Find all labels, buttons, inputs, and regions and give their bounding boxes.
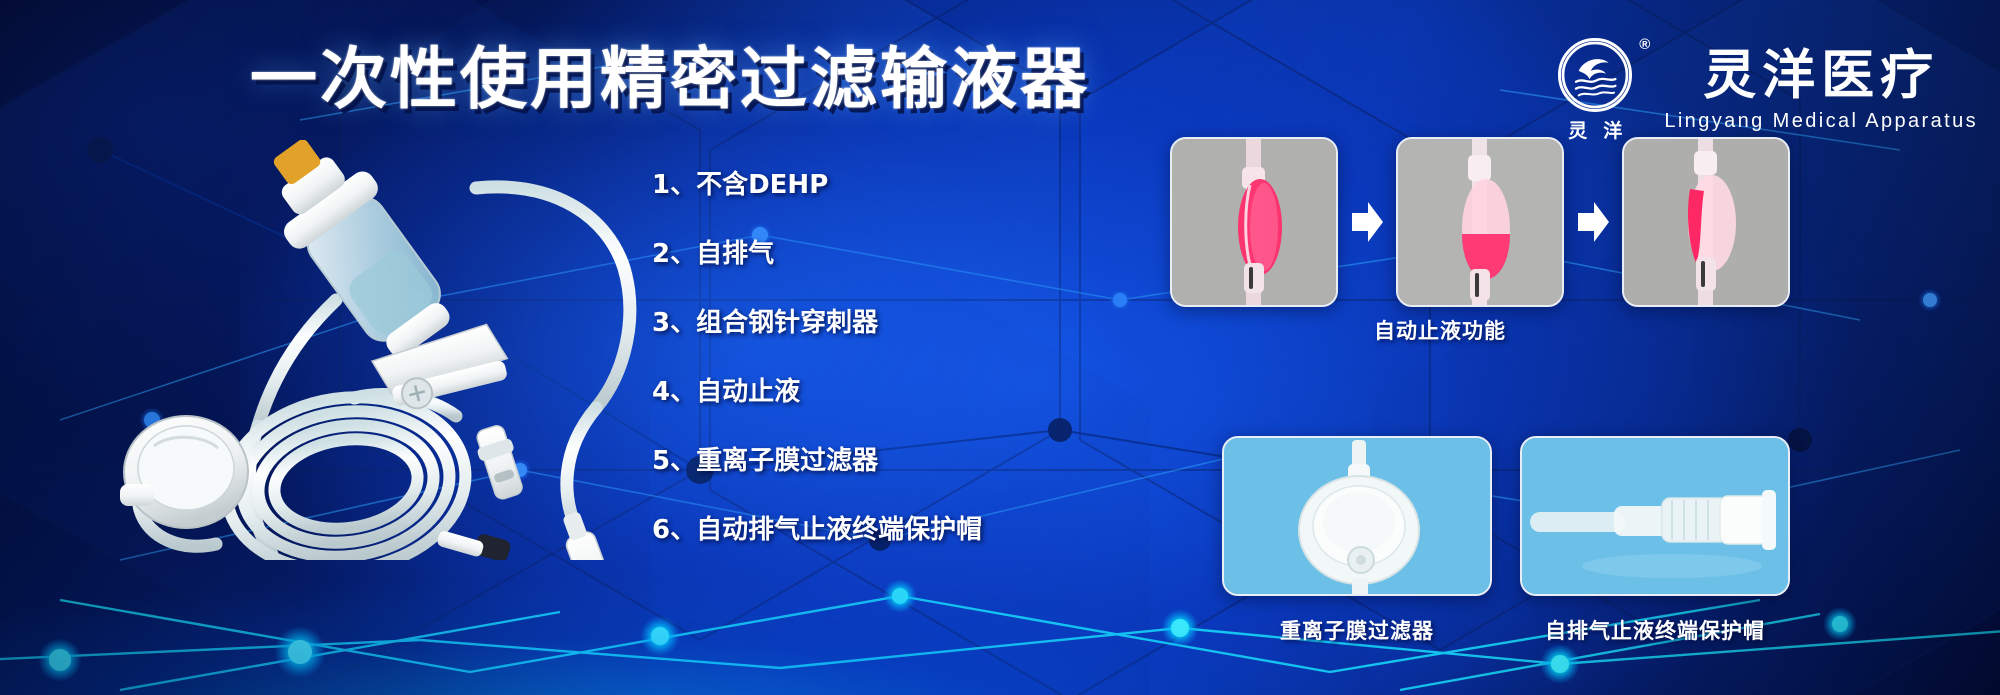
feature-label-6: 自动排气止液终端保护帽: [696, 515, 982, 545]
feature-item-6: 6、自动排气止液终端保护帽: [652, 517, 992, 543]
filter-caption: 重离子膜过滤器: [1222, 615, 1492, 645]
auto-stop-caption: 自动止液功能: [1170, 315, 1710, 345]
feature-label-1: 不含DEHP: [696, 170, 828, 200]
auto-stop-sequence-panel: [1170, 137, 1790, 307]
component-caption-row: 重离子膜过滤器 自排气止液终端保护帽: [1222, 615, 1790, 645]
brand-emblem-wrap: ® 灵洋: [1552, 38, 1638, 143]
product-banner: 一次性使用精密过滤输液器 ® 灵洋 灵洋医疗 Lingyang Medical …: [0, 0, 2000, 695]
roller-clamp: [471, 422, 527, 502]
feature-index-6: 6、: [652, 515, 696, 545]
auto-stop-shot-3: [1622, 137, 1790, 307]
feature-index-1: 1、: [652, 170, 696, 200]
banner-title: 一次性使用精密过滤输液器: [250, 46, 1090, 113]
drip-chamber: [244, 140, 468, 371]
needle-connector: [556, 509, 617, 560]
brand-name-en: Lingyang Medical Apparatus: [1664, 110, 1978, 133]
wave-dolphin-emblem-icon: [1558, 38, 1632, 112]
feature-item-1: 1、不含DEHP: [652, 172, 992, 198]
feature-label-2: 自排气: [696, 239, 774, 269]
filter-photo: [1222, 436, 1492, 596]
auto-stop-shot-1: [1170, 137, 1338, 307]
feature-list: 1、不含DEHP 2、自排气 3、组合钢针穿刺器 4、自动止液 5、重离子膜过滤…: [652, 172, 992, 543]
feature-item-5: 5、重离子膜过滤器: [652, 448, 992, 474]
auto-stop-shot-2: [1396, 137, 1564, 307]
registered-trademark-icon: ®: [1639, 36, 1650, 53]
brand-text: 灵洋医疗 Lingyang Medical Apparatus: [1664, 49, 1978, 133]
feature-item-4: 4、自动止液: [652, 379, 992, 405]
feature-index-4: 4、: [652, 377, 696, 407]
brand-name-cn: 灵洋医疗: [1703, 49, 1939, 102]
component-photo-panel: [1222, 436, 1790, 596]
feature-label-5: 重离子膜过滤器: [696, 446, 878, 476]
feature-index-3: 3、: [652, 308, 696, 338]
feature-index-2: 2、: [652, 239, 696, 269]
feature-item-2: 2、自排气: [652, 241, 992, 267]
right-arrow-icon: [1350, 200, 1384, 244]
feature-label-3: 组合钢针穿刺器: [696, 308, 878, 338]
feature-label-4: 自动止液: [696, 377, 800, 407]
product-photo: [36, 140, 656, 560]
right-arrow-icon-2: [1576, 200, 1610, 244]
protective-cap-caption: 自排气止液终端保护帽: [1520, 615, 1790, 645]
feature-index-5: 5、: [652, 446, 696, 476]
brand-logo: ® 灵洋 灵洋医疗 Lingyang Medical Apparatus: [1552, 38, 1978, 143]
protective-cap-photo: [1520, 436, 1790, 596]
feature-item-3: 3、组合钢针穿刺器: [652, 310, 992, 336]
